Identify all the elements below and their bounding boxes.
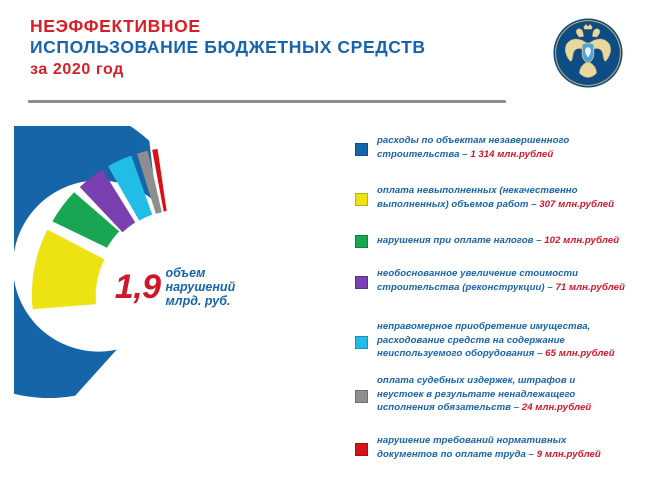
legend-amount-2: 102 млн.рублей xyxy=(544,235,619,246)
donut-segment-yellow[interactable] xyxy=(32,230,104,310)
legend-line-0-2: строительства – xyxy=(377,149,470,160)
legend-label-4: неправомерное приобретение имущества, ра… xyxy=(377,320,615,361)
legend-line-1-1: оплата невыполненных (некачественно xyxy=(377,185,578,196)
legend-item-6[interactable]: нарушение требований нормативных докумен… xyxy=(355,434,601,461)
donut-chart: 1,9 объем нарушений млрд. руб. xyxy=(14,126,336,448)
legend-line-4-1: неправомерное приобретение имущества, xyxy=(377,321,590,332)
legend-line-1-2: выполненных) объемов работ – xyxy=(377,199,539,210)
legend-line-6-1: нарушение требований нормативных xyxy=(377,435,566,446)
legend-amount-5: 24 млн.рублей xyxy=(522,402,591,413)
legend-line-3-1: необоснованное увеличение стоимости xyxy=(377,268,578,279)
legend-label-3: необоснованное увеличение стоимости стро… xyxy=(377,267,625,294)
legend-amount-4: 65 млн.рублей xyxy=(545,348,614,359)
legend-line-5-1: оплата судебных издержек, штрафов и xyxy=(377,375,575,386)
legend-item-4[interactable]: неправомерное приобретение имущества, ра… xyxy=(355,320,615,361)
legend-label-2: нарушения при оплате налогов – 102 млн.р… xyxy=(377,234,619,248)
legend-item-3[interactable]: необоснованное увеличение стоимости стро… xyxy=(355,267,625,294)
legend-line-4-1b: расходование средств на содержание xyxy=(377,335,565,346)
legend-line-2-2: нарушения при оплате налогов – xyxy=(377,235,544,246)
legend-line-6-2: документов по оплате труда – xyxy=(377,449,537,460)
legend-amount-6: 9 млн.рублей xyxy=(537,449,601,460)
legend-line-3-2: строительства (реконструкции) – xyxy=(377,282,555,293)
title-line-1: НЕЭФФЕКТИВНОЕ xyxy=(30,16,510,37)
legend-swatch-green-icon xyxy=(355,235,368,248)
legend-amount-0: 1 314 млн.рублей xyxy=(470,149,553,160)
legend-item-5[interactable]: оплата судебных издержек, штрафов и неус… xyxy=(355,374,591,415)
header-divider xyxy=(28,100,506,103)
legend-item-1[interactable]: оплата невыполненных (некачественно выпо… xyxy=(355,184,614,211)
legend-line-4-2: неиспользуемого оборудования – xyxy=(377,348,545,359)
legend-label-0: расходы по объектам незавершенного строи… xyxy=(377,134,569,161)
legend-swatch-yellow-icon xyxy=(355,193,368,206)
legend-swatch-cyan-icon xyxy=(355,336,368,349)
legend-line-0-1: расходы по объектам незавершенного xyxy=(377,135,569,146)
legend-swatch-red-icon xyxy=(355,443,368,456)
header: НЕЭФФЕКТИВНОЕ ИСПОЛЬЗОВАНИЕ БЮДЖЕТНЫХ СР… xyxy=(0,0,647,110)
legend-swatch-purple-icon xyxy=(355,276,368,289)
legend-item-0[interactable]: расходы по объектам незавершенного строи… xyxy=(355,134,569,161)
legend-line-5-2: исполнения обязательств – xyxy=(377,402,522,413)
donut-chart-svg xyxy=(14,126,336,448)
title-line-2: ИСПОЛЬЗОВАНИЕ БЮДЖЕТНЫХ СРЕДСТВ xyxy=(30,37,510,58)
legend-swatch-gray-icon xyxy=(355,390,368,403)
legend-amount-3: 71 млн.рублей xyxy=(555,282,624,293)
legend-amount-1: 307 млн.рублей xyxy=(539,199,614,210)
title-line-3: за 2020 год xyxy=(30,60,510,80)
page-title: НЕЭФФЕКТИВНОЕ ИСПОЛЬЗОВАНИЕ БЮДЖЕТНЫХ СР… xyxy=(30,16,510,79)
legend-item-2[interactable]: нарушения при оплате налогов – 102 млн.р… xyxy=(355,234,619,248)
legend-label-6: нарушение требований нормативных докумен… xyxy=(377,434,601,461)
legend-line-5-1b: неустоек в результате ненадлежащего xyxy=(377,389,575,400)
legend-swatch-blue-icon xyxy=(355,143,368,156)
prosecutor-general-office-emblem-icon xyxy=(552,17,624,89)
legend-label-5: оплата судебных издержек, штрафов и неус… xyxy=(377,374,591,415)
legend-label-1: оплата невыполненных (некачественно выпо… xyxy=(377,184,614,211)
